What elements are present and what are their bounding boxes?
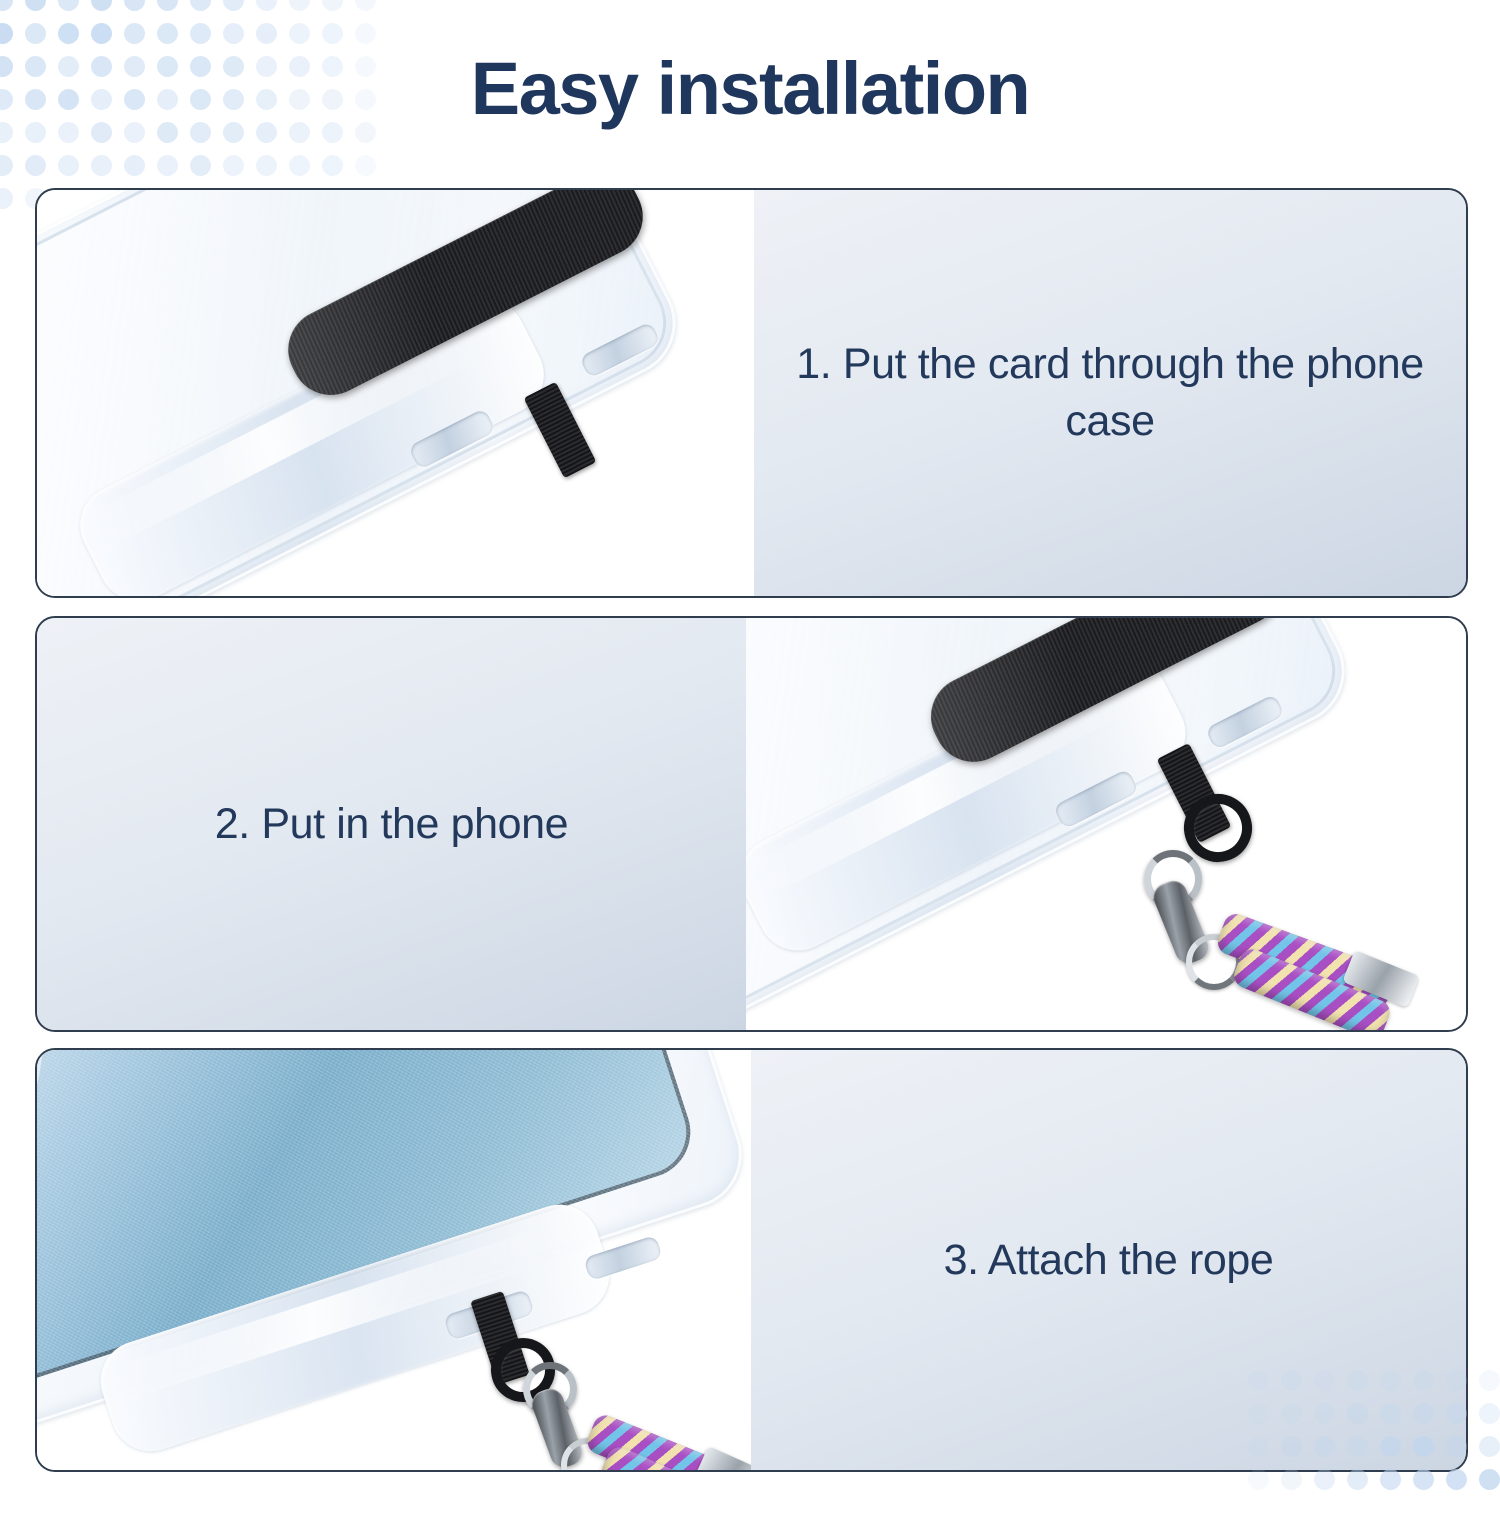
step-2-text-area: 2. Put in the phone	[37, 618, 746, 1030]
decorative-dot	[289, 0, 310, 11]
rope-metal-tip	[695, 1446, 751, 1470]
decorative-dot	[256, 155, 277, 176]
decorative-dot	[322, 0, 343, 11]
clear-case-with-card-scene	[37, 190, 754, 596]
decorative-dot	[1446, 1469, 1467, 1490]
decorative-dot	[223, 155, 244, 176]
assembled-phone-with-rope-scene	[37, 1050, 751, 1470]
decorative-dot	[223, 23, 244, 44]
case-card-rope-scene	[746, 618, 1466, 1030]
step-1-label: 1. Put the card through the phone case	[754, 336, 1466, 450]
decorative-dot	[0, 0, 13, 11]
decorative-dot	[58, 23, 79, 44]
decorative-dot	[223, 0, 244, 11]
step-panel-1: 1. Put the card through the phone case	[35, 188, 1468, 598]
decorative-dot	[0, 155, 13, 176]
decorative-dot	[322, 23, 343, 44]
decorative-dot	[289, 23, 310, 44]
step-1-text-area: 1. Put the card through the phone case	[754, 190, 1466, 596]
decorative-dot	[91, 23, 112, 44]
decorative-dot	[1347, 1469, 1368, 1490]
decorative-dot	[355, 0, 376, 11]
decorative-dot	[124, 155, 145, 176]
step-1-photo	[37, 190, 754, 596]
decorative-dot	[190, 155, 211, 176]
decorative-dot	[0, 23, 13, 44]
step-2-label: 2. Put in the phone	[175, 796, 608, 853]
decorative-dot	[157, 23, 178, 44]
decorative-dot	[1479, 1436, 1500, 1457]
decorative-dot	[1479, 1370, 1500, 1391]
decorative-dot	[124, 23, 145, 44]
decorative-dot	[91, 155, 112, 176]
decorative-dot	[1281, 1469, 1302, 1490]
decorative-dot	[1380, 1469, 1401, 1490]
step-panel-2: 2. Put in the phone	[35, 616, 1468, 1032]
decorative-dot	[25, 0, 46, 11]
step-3-photo	[37, 1050, 751, 1470]
step-2-photo	[746, 618, 1466, 1030]
decorative-dot	[256, 0, 277, 11]
decorative-dot	[25, 23, 46, 44]
step-panel-3: 3. Attach the rope	[35, 1048, 1468, 1472]
decorative-dot	[1248, 1469, 1269, 1490]
decorative-dot	[190, 0, 211, 11]
decorative-dot	[355, 155, 376, 176]
decorative-dot	[1413, 1469, 1434, 1490]
step-3-label: 3. Attach the rope	[904, 1232, 1314, 1289]
decorative-dot	[289, 155, 310, 176]
decorative-dot	[256, 23, 277, 44]
decorative-dot	[1479, 1403, 1500, 1424]
page-title: Easy installation	[0, 52, 1500, 126]
decorative-dot	[190, 23, 211, 44]
decorative-dot	[157, 0, 178, 11]
decorative-dot	[58, 0, 79, 11]
decorative-dot	[0, 188, 13, 209]
decorative-dot	[58, 155, 79, 176]
decorative-dot	[91, 0, 112, 11]
decorative-dot	[124, 0, 145, 11]
decorative-dot	[1479, 1469, 1500, 1490]
decorative-dot	[157, 155, 178, 176]
decorative-dot	[1314, 1469, 1335, 1490]
decorative-dot	[322, 155, 343, 176]
decorative-dot	[355, 23, 376, 44]
decorative-dot	[25, 155, 46, 176]
step-3-text-area: 3. Attach the rope	[751, 1050, 1466, 1470]
